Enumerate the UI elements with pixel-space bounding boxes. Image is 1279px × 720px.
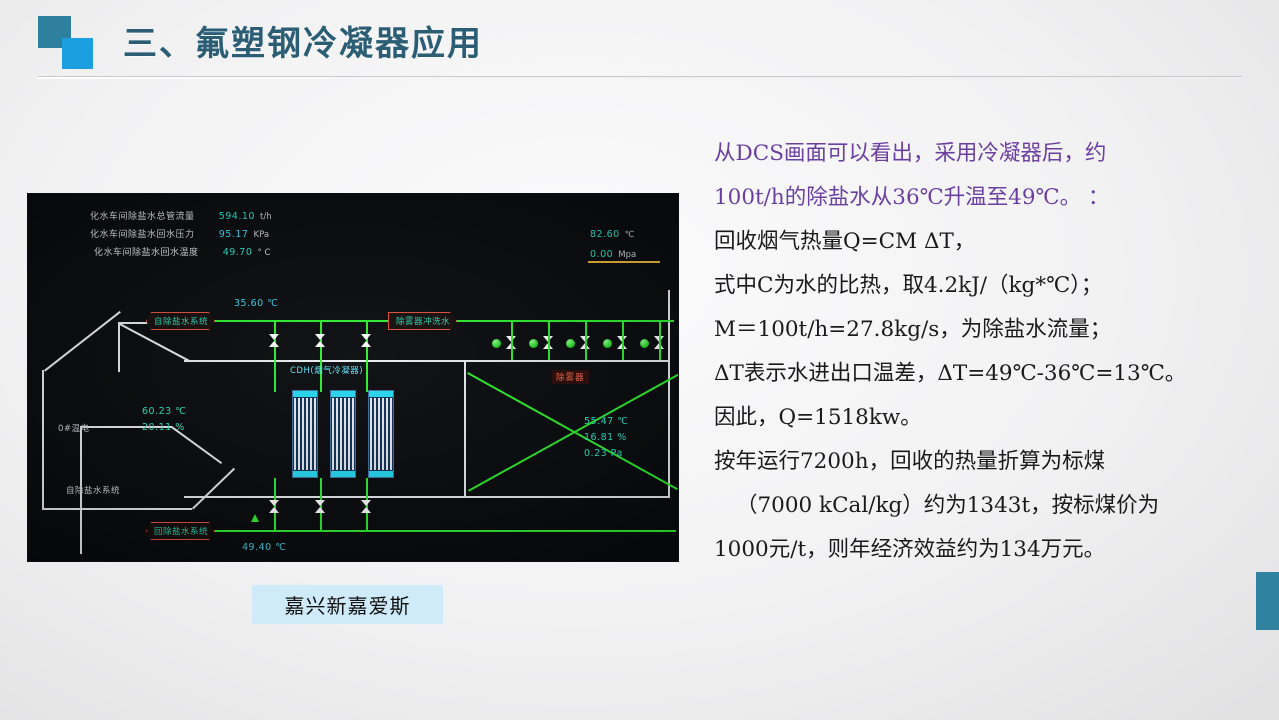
page-title: 三、氟塑钢冷凝器应用: [123, 16, 483, 65]
demister-outlet-humidity: 16.81 %: [584, 432, 627, 443]
readout-stack-pressure: 0.00 Mpa: [590, 242, 636, 261]
label-boiler: 0#温电: [58, 422, 90, 434]
right-edge-accent-bar: [1256, 572, 1279, 630]
tag-demister-wash-water: 除雾器冲洗水: [388, 312, 457, 330]
valve-status-indicator: [566, 339, 575, 348]
body-line: （7000 kCal/kg）约为1343t，按标煤价为: [714, 484, 1262, 528]
boiler-outlet-humidity: 20.11 %: [142, 422, 185, 433]
label-demister: 除雾器: [552, 370, 589, 384]
body-line: ΔT表示水进出口温差，ΔT=49℃-36℃=13℃。: [714, 352, 1262, 396]
duct-riser-left: [118, 322, 120, 372]
supply-branch-2: [320, 320, 322, 392]
label-condenser: CDH(烟气冷凝器): [290, 364, 363, 376]
slide-header: 三、氟塑钢冷凝器应用: [0, 0, 1279, 90]
stack-indicator-line: [588, 261, 660, 263]
body-line: 式中C为水的比热，取4.2kJ/（kg*℃）；: [714, 264, 1262, 308]
readout-row-flow: 化水车间除盐水总管流量 594.10 t/h: [90, 204, 272, 223]
valve-status-indicator: [492, 339, 501, 348]
demister-outlet-temp: 55.47 ℃: [584, 416, 628, 427]
valve-icon: [361, 500, 372, 513]
duct-top-rail: [184, 360, 670, 362]
stack-riser: [668, 290, 670, 362]
wash-branch-4: [622, 320, 624, 360]
valve-icon: [269, 334, 280, 347]
body-line: 1000元/t，则年经济效益约为134万元。: [714, 528, 1262, 572]
valve-status-indicator: [640, 339, 649, 348]
duct-taper-upper: [44, 311, 121, 372]
dcs-diagram: 化水车间除盐水总管流量 594.10 t/h 化水车间除盐水回水压力 95.17…: [28, 194, 678, 561]
duct-outline-bottom-left: [42, 508, 192, 510]
supply-branch-1: [274, 320, 276, 392]
tag-inlet-desalt-system: 自除盐水系统: [146, 312, 215, 330]
condenser-module: [368, 390, 394, 478]
tag-return-desalt-system: 回除盐水系统: [146, 522, 215, 540]
condenser-module: [292, 390, 318, 478]
label-desalt-system: 自除盐水系统: [66, 484, 120, 496]
readout-row-temperature: 化水车间除盐水回水温度 49.70 ° C: [94, 240, 270, 259]
valve-icon: [361, 334, 372, 347]
duct-outline-left: [42, 370, 44, 510]
flow-arrow-up: [251, 514, 259, 522]
valve-icon: [269, 500, 280, 513]
inlet-temp-value: 35.60 ℃: [234, 298, 278, 309]
decor-square-bright: [62, 38, 93, 69]
body-line: 因此，Q=1518kw。: [714, 396, 1262, 440]
body-line: 从DCS画面可以看出，采用冷凝器后，约: [714, 132, 1262, 176]
duct-bottom-rail: [184, 496, 670, 498]
body-line: 按年运行7200h，回收的热量折算为标煤: [714, 440, 1262, 484]
readout-row-pressure: 化水车间除盐水回水压力 95.17 KPa: [90, 222, 269, 241]
body-text-column: 从DCS画面可以看出，采用冷凝器后，约 100t/h的除盐水从36℃升温至49℃…: [714, 132, 1262, 572]
boiler-outlet-temp: 60.23 ℃: [142, 406, 186, 417]
dcs-screen-photo: 化水车间除盐水总管流量 594.10 t/h 化水车间除盐水回水压力 95.17…: [28, 194, 678, 561]
title-divider: [38, 76, 1242, 79]
duct-taper-lower: [192, 468, 235, 510]
valve-icon: [315, 500, 326, 513]
body-line: 100t/h的除盐水从36℃升温至49℃。 ：: [714, 176, 1262, 220]
wash-branch-2: [548, 320, 550, 360]
wash-pipe-top: [458, 320, 674, 322]
valve-status-indicator: [603, 339, 612, 348]
wash-branch-3: [585, 320, 587, 360]
supply-branch-3: [366, 320, 368, 392]
condenser-module: [330, 390, 356, 478]
body-line: 回收烟气热量Q=CM ΔT，: [714, 220, 1262, 264]
return-pipe-bottom: [206, 530, 676, 532]
outlet-temp-value: 49.40 ℃: [242, 542, 286, 553]
wash-branch-5: [659, 320, 661, 360]
valve-icon: [315, 334, 326, 347]
demister-outlet-pressure: 0.23 Pa: [584, 448, 623, 459]
demister-chamber-left: [464, 360, 466, 498]
valve-status-indicator: [529, 339, 538, 348]
readout-stack-temp: 82.60 ℃: [590, 222, 634, 241]
body-line: M＝100t/h=27.8kg/s，为除盐水流量；: [714, 308, 1262, 352]
photo-caption: 嘉兴新嘉爱斯: [252, 585, 443, 624]
wash-branch-1: [511, 320, 513, 360]
